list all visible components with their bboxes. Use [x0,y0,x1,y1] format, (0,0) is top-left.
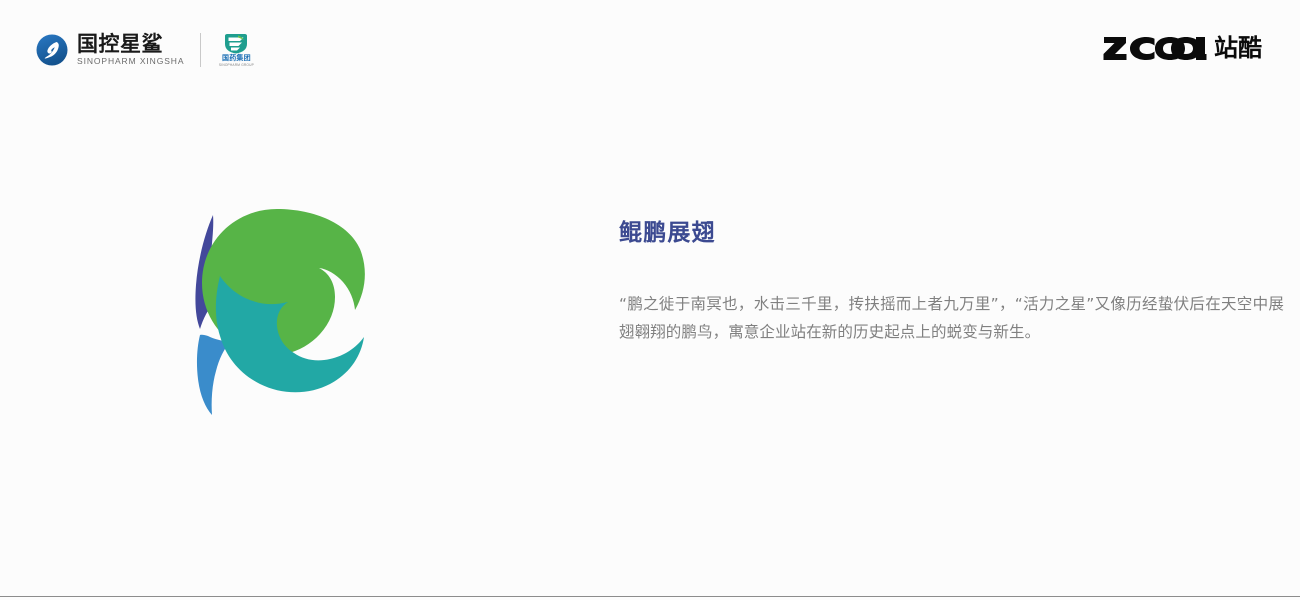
slide-header: 国控星鲨 SINOPHARM XINGSHA 国药集团 SINOPHARM GR… [0,0,1300,92]
brand-name-cn: 国控星鲨 [77,33,184,56]
group-name-en: SINOPHARM GROUP [219,63,254,68]
footer-rule [0,596,1300,597]
zcool-cn-logotype: 站酷 [1214,35,1262,61]
sinopharm-group-wave-icon [223,33,249,54]
zcool-latin-logotype [1103,35,1207,61]
header-divider [200,33,201,67]
section-title: 鲲鹏展翅 [619,218,1279,248]
slide-canvas: 国控星鲨 SINOPHARM XINGSHA 国药集团 SINOPHARM GR… [0,0,1300,600]
copy-block: 鲲鹏展翅 “鹏之徙于南冥也，水击三千里，抟扶摇而上者九万里”，“活力之星”又像历… [619,218,1279,346]
kunpeng-brand-logo [172,197,402,422]
brand-wordmark: 国控星鲨 SINOPHARM XINGSHA [77,32,184,68]
slide-content: 鲲鹏展翅 “鹏之徙于南冥也，水击三千里，抟扶摇而上者九万里”，“活力之星”又像历… [0,92,1300,592]
sinopharm-shark-emblem-icon [36,34,68,66]
brand-name-en: SINOPHARM XINGSHA [77,56,184,67]
section-body-text: “鹏之徙于南冥也，水击三千里，抟扶摇而上者九万里”，“活力之星”又像历经蛰伏后在… [619,290,1284,346]
brand-lockup: 国控星鲨 SINOPHARM XINGSHA 国药集团 SINOPHARM GR… [36,28,256,72]
group-name-cn: 国药集团 [222,54,251,63]
zcool-watermark: 站酷 [1103,32,1262,64]
sinopharm-group-logo: 国药集团 SINOPHARM GROUP [216,33,256,68]
